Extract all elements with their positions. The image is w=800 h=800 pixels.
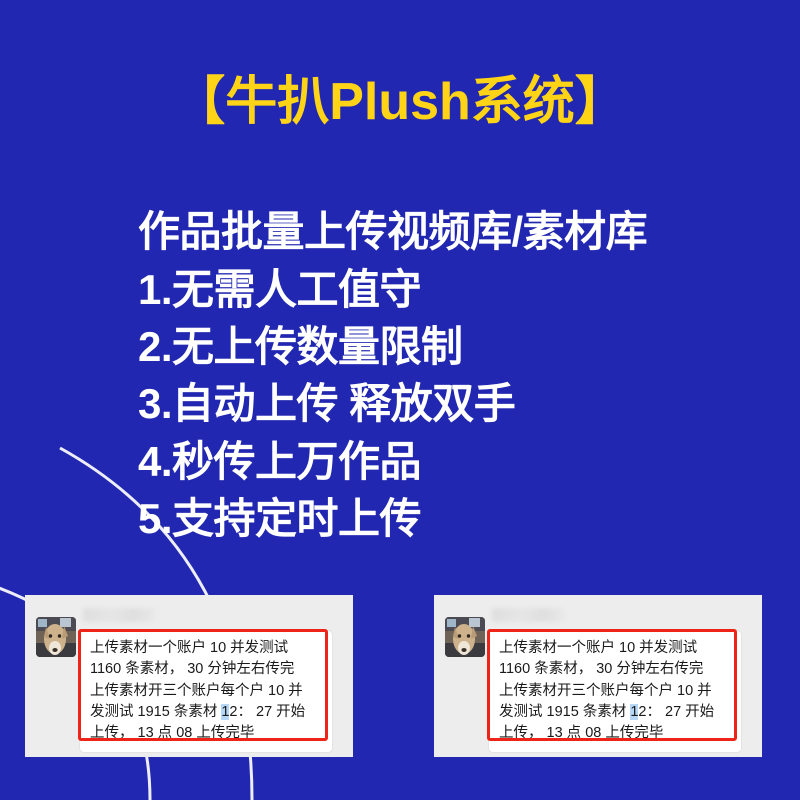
- chat-message-row: 上传素材一个账户 10 并发测试 1160 条素材， 30 分钟左右传完 上传素…: [434, 595, 762, 757]
- chat-screenshot-card-left: 上传素材一个账户 10 并发测试 1160 条素材， 30 分钟左右传完 上传素…: [25, 595, 353, 757]
- sender-name-redacted: [83, 608, 155, 622]
- chat-message-row: 上传素材一个账户 10 并发测试 1160 条素材， 30 分钟左右传完 上传素…: [25, 595, 353, 757]
- feature-item-3: 3.自动上传 释放双手: [138, 375, 778, 432]
- headline: 作品批量上传视频库/素材库: [138, 206, 778, 257]
- feature-item-1: 1.无需人工值守: [138, 261, 778, 318]
- sender-name-redacted: [492, 608, 564, 622]
- feature-item-4: 4.秒传上万作品: [138, 433, 778, 490]
- page-title: 【牛扒Plush系统】: [0, 74, 800, 131]
- feature-item-5: 5.支持定时上传: [138, 490, 778, 547]
- promo-poster: 【牛扒Plush系统】 作品批量上传视频库/素材库 1.无需人工值守 2.无上传…: [0, 0, 800, 800]
- chat-screenshot-card-right: 上传素材一个账户 10 并发测试 1160 条素材， 30 分钟左右传完 上传素…: [434, 595, 762, 757]
- chat-bubble-text: 上传素材一个账户 10 并发测试 1160 条素材， 30 分钟左右传完 上传素…: [489, 631, 741, 752]
- avatar: [36, 617, 76, 657]
- avatar: [445, 617, 485, 657]
- chat-bubble[interactable]: 上传素材一个账户 10 并发测试 1160 条素材， 30 分钟左右传完 上传素…: [80, 631, 332, 752]
- feature-list: 1.无需人工值守 2.无上传数量限制 3.自动上传 释放双手 4.秒传上万作品 …: [138, 261, 778, 547]
- feature-item-2: 2.无上传数量限制: [138, 318, 778, 375]
- content-block: 作品批量上传视频库/素材库 1.无需人工值守 2.无上传数量限制 3.自动上传 …: [138, 206, 778, 547]
- chat-bubble-text: 上传素材一个账户 10 并发测试 1160 条素材， 30 分钟左右传完 上传素…: [80, 631, 332, 752]
- chat-bubble[interactable]: 上传素材一个账户 10 并发测试 1160 条素材， 30 分钟左右传完 上传素…: [489, 631, 741, 752]
